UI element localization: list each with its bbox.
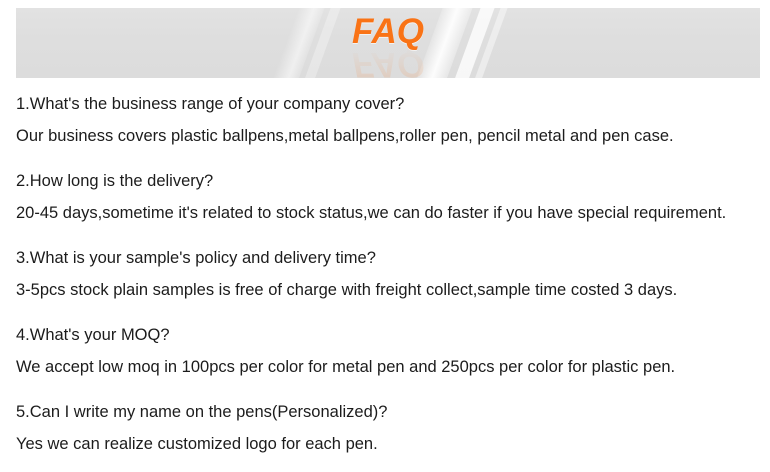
faq-question: 5.Can I write my name on the pens(Person…	[16, 396, 760, 428]
faq-item: 3.What is your sample's policy and deliv…	[16, 242, 760, 306]
faq-answer: Our business covers plastic ballpens,met…	[16, 120, 760, 152]
faq-answer: We accept low moq in 100pcs per color fo…	[16, 351, 760, 383]
faq-header-banner: FAQ FAQ	[16, 8, 760, 78]
faq-item: 1.What's the business range of your comp…	[16, 88, 760, 152]
faq-item: 2.How long is the delivery? 20-45 days,s…	[16, 165, 760, 229]
faq-item: 5.Can I write my name on the pens(Person…	[16, 396, 760, 460]
faq-list: 1.What's the business range of your comp…	[16, 88, 760, 460]
faq-item: 4.What's your MOQ? We accept low moq in …	[16, 319, 760, 383]
page-title: FAQ	[352, 14, 424, 50]
faq-answer: 3-5pcs stock plain samples is free of ch…	[16, 274, 760, 306]
faq-question: 1.What's the business range of your comp…	[16, 88, 760, 120]
faq-question: 3.What is your sample's policy and deliv…	[16, 242, 760, 274]
faq-answer: Yes we can realize customized logo for e…	[16, 428, 760, 460]
page-title-reflection: FAQ	[352, 46, 424, 78]
faq-answer: 20-45 days,sometime it's related to stoc…	[16, 197, 760, 229]
faq-page: FAQ FAQ 1.What's the business range of y…	[0, 0, 770, 472]
faq-question: 4.What's your MOQ?	[16, 319, 760, 351]
faq-question: 2.How long is the delivery?	[16, 165, 760, 197]
banner-title-wrap: FAQ FAQ	[16, 8, 760, 78]
